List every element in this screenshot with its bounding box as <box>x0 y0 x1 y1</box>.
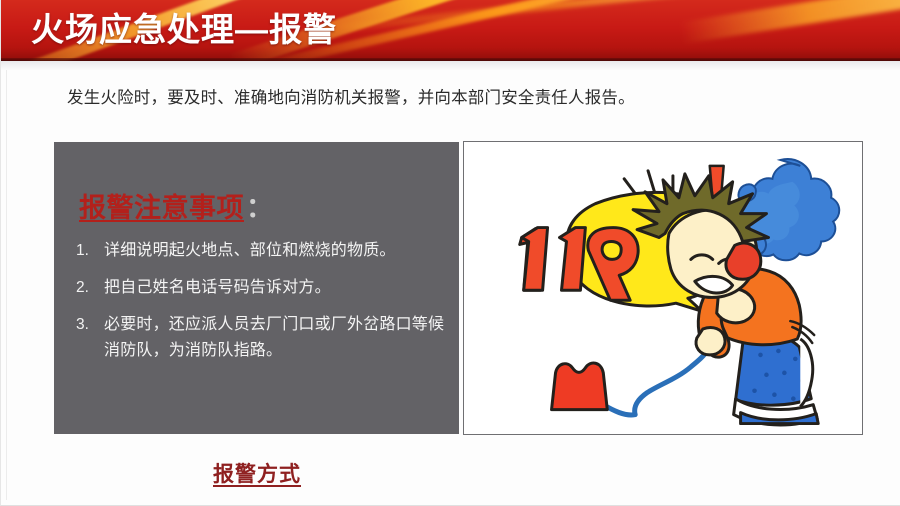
panel-heading-label: 报警注意事项 <box>79 193 244 223</box>
list-item-number: 3. <box>72 312 104 337</box>
illustration-frame <box>463 141 863 435</box>
list-item: 3. 必要时，还应派人员去厂门口或厂外岔路口等候消防队，为消防队指路。 <box>72 312 450 364</box>
panel-heading-colon: ： <box>244 193 274 223</box>
panel-heading: 报警注意事项： <box>79 186 274 225</box>
list-item: 2. 把自己姓名电话号码告诉对方。 <box>72 275 450 301</box>
notes-list: 1. 详细说明起火地点、部位和燃烧的物质。 2. 把自己姓名电话号码告诉对方。 … <box>72 238 450 375</box>
bottom-link[interactable]: 报警方式 <box>213 458 301 488</box>
notes-panel: 报警注意事项： 1. 详细说明起火地点、部位和燃烧的物质。 2. 把自己姓名电话… <box>54 142 459 434</box>
emergency-call-119-icon <box>464 142 862 435</box>
page-title: 火场应急处理—报警 <box>31 5 337 55</box>
list-item-number: 1. <box>72 238 104 263</box>
list-item-text: 详细说明起火地点、部位和燃烧的物质。 <box>104 238 450 264</box>
telephone-base-icon <box>552 363 608 410</box>
list-item-text: 把自己姓名电话号码告诉对方。 <box>104 275 450 301</box>
slide-left-rule <box>6 70 7 500</box>
subtitle-text: 发生火险时，要及时、准确地向消防机关报警，并向本部门安全责任人报告。 <box>67 84 867 108</box>
list-item-number: 2. <box>72 275 104 300</box>
header-banner: 火场应急处理—报警 <box>1 0 900 61</box>
presentation-slide: 火场应急处理—报警 发生火险时，要及时、准确地向消防机关报警，并向本部门安全责任… <box>0 0 900 506</box>
banner-shadow-strip <box>1 61 900 70</box>
list-item-text: 必要时，还应派人员去厂门口或厂外岔路口等候消防队，为消防队指路。 <box>104 312 450 364</box>
list-item: 1. 详细说明起火地点、部位和燃烧的物质。 <box>72 238 450 264</box>
